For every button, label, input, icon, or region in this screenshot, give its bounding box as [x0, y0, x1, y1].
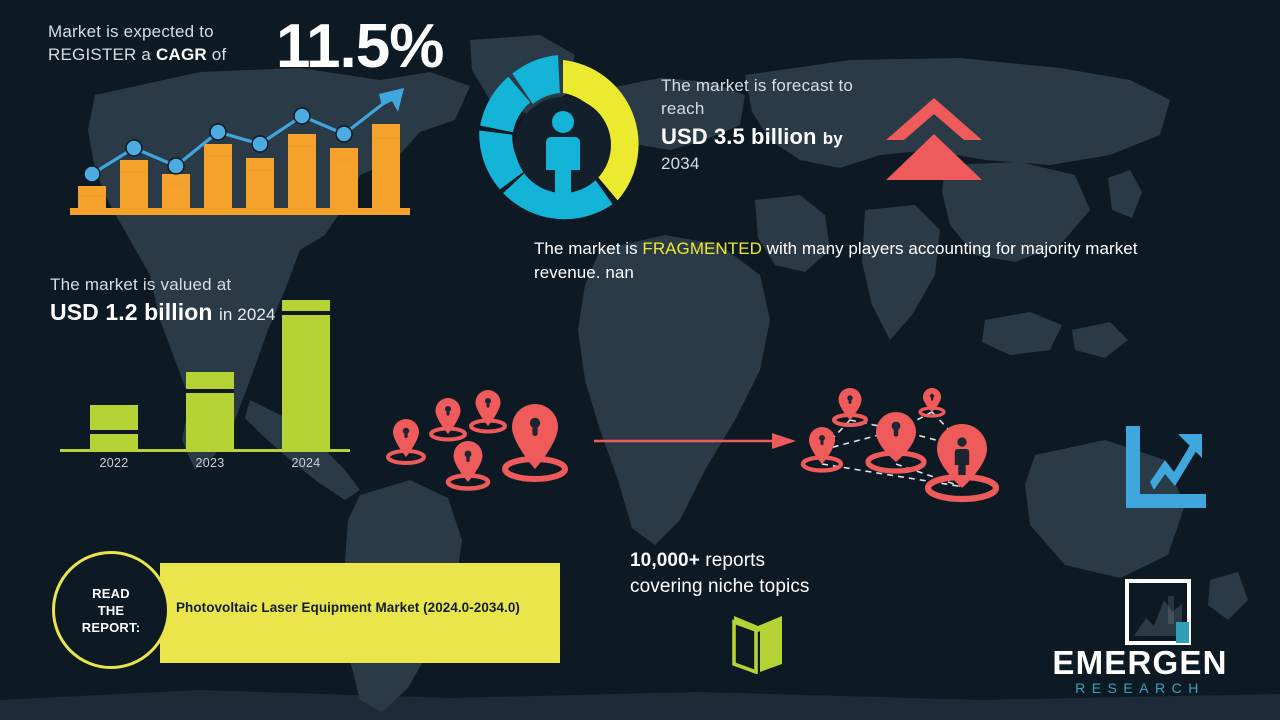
- content-layer: Market is expected to REGISTER a CAGR of…: [0, 0, 1280, 720]
- reports-count-line1: 10,000+ reports: [630, 548, 890, 574]
- forecast-value-suffix: by: [823, 129, 843, 148]
- year-label-2024: 2024: [270, 456, 342, 470]
- year-label-2023: 2023: [174, 456, 246, 470]
- double-chevron-up-icon: [884, 96, 984, 182]
- read-report-label: READ THE REPORT:: [82, 585, 140, 636]
- market-value-chart: [60, 290, 350, 475]
- cagr-value: 11.5%: [276, 11, 443, 83]
- green-bars: [90, 300, 330, 450]
- logo-mark-icon: [1124, 578, 1192, 646]
- read-report-line3: REPORT:: [82, 620, 140, 635]
- fragmented-statement: The market is FRAGMENTED with many playe…: [534, 237, 1206, 284]
- market-share-donut: [468, 52, 658, 238]
- reports-count-number: 10,000+: [630, 550, 700, 571]
- line-chart-growth-icon: [1120, 424, 1208, 512]
- read-report-line1: READ: [92, 586, 130, 601]
- chart-baseline: [70, 208, 410, 215]
- fragmented-highlight: FRAGMENTED: [642, 239, 762, 258]
- cagr-caption-line1: Market is expected to: [48, 22, 214, 41]
- read-report-line2: THE: [98, 603, 125, 618]
- forecast-value: USD 3.5 billion by: [661, 122, 896, 153]
- cagr-caption-bold: CAGR: [156, 45, 207, 64]
- open-book-icon: [722, 612, 794, 674]
- forecast-value-amount: USD 3.5 billion: [661, 124, 817, 149]
- map-pin-cluster-connected: [800, 382, 1020, 507]
- report-title: Photovoltaic Laser Equipment Market (202…: [176, 593, 526, 623]
- map-pin-cluster-fragmented: [378, 384, 583, 496]
- forecast-year: 2034: [661, 153, 896, 175]
- fragmented-pre: The market is: [534, 239, 642, 258]
- green-chart-baseline: [60, 449, 350, 452]
- reports-count-label: reports: [700, 550, 765, 571]
- infographic-canvas: Market is expected to REGISTER a CAGR of…: [0, 0, 1280, 720]
- emergen-research-logo: EMERGEN RESEARCH: [1020, 578, 1260, 700]
- right-arrow-icon: [592, 430, 798, 452]
- forecast-block: The market is forecast to reach USD 3.5 …: [661, 74, 896, 175]
- logo-name: EMERGEN: [1020, 644, 1260, 682]
- reports-count-line2: covering niche topics: [630, 574, 890, 600]
- trend-arrow-head: [379, 88, 404, 112]
- read-report-button[interactable]: READ THE REPORT:: [52, 551, 170, 669]
- read-report-banner[interactable]: Photovoltaic Laser Equipment Market (202…: [160, 563, 560, 663]
- cagr-caption-line2-pre: REGISTER a: [48, 45, 156, 64]
- cagr-caption-line2-post: of: [207, 45, 227, 64]
- cagr-growth-chart: [70, 86, 410, 218]
- year-label-2022: 2022: [78, 456, 150, 470]
- reports-count-block: 10,000+ reports covering niche topics: [630, 548, 890, 600]
- logo-subtitle: RESEARCH: [1020, 680, 1260, 696]
- cagr-block: Market is expected to REGISTER a CAGR of…: [48, 20, 448, 66]
- forecast-lead: The market is forecast to reach: [661, 74, 896, 120]
- cagr-caption: Market is expected to REGISTER a CAGR of: [48, 20, 263, 66]
